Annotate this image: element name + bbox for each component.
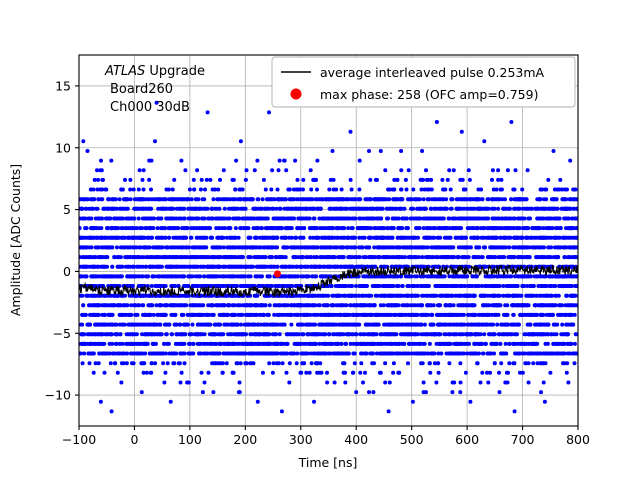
upgrade-label: Upgrade (145, 64, 205, 79)
legend-label-1: max phase: 258 (OFC amp=0.759) (320, 87, 538, 102)
atlas-label: ATLAS (104, 64, 145, 79)
annotation-channel: Ch000 30dB (110, 100, 190, 115)
y-axis-ticks: −10−5051015 (45, 78, 79, 402)
annotation-line-1: ATLAS Upgrade (104, 64, 205, 79)
x-axis-label: Time [ns] (298, 455, 358, 470)
annotation-board: Board260 (110, 82, 173, 97)
x-axis-ticks: −1000100200300400500600700800 (62, 426, 590, 447)
y-axis-label: Amplitude [ADC Counts] (8, 164, 23, 316)
figure-canvas: −1000100200300400500600700800 −10−505101… (0, 0, 640, 480)
legend: average interleaved pulse 0.253mA max ph… (272, 57, 575, 107)
legend-dot-swatch (291, 89, 302, 100)
max-phase-point-red (274, 270, 281, 277)
legend-label-0: average interleaved pulse 0.253mA (320, 65, 545, 80)
scatter-plot: −1000100200300400500600700800 −10−505101… (0, 0, 640, 480)
